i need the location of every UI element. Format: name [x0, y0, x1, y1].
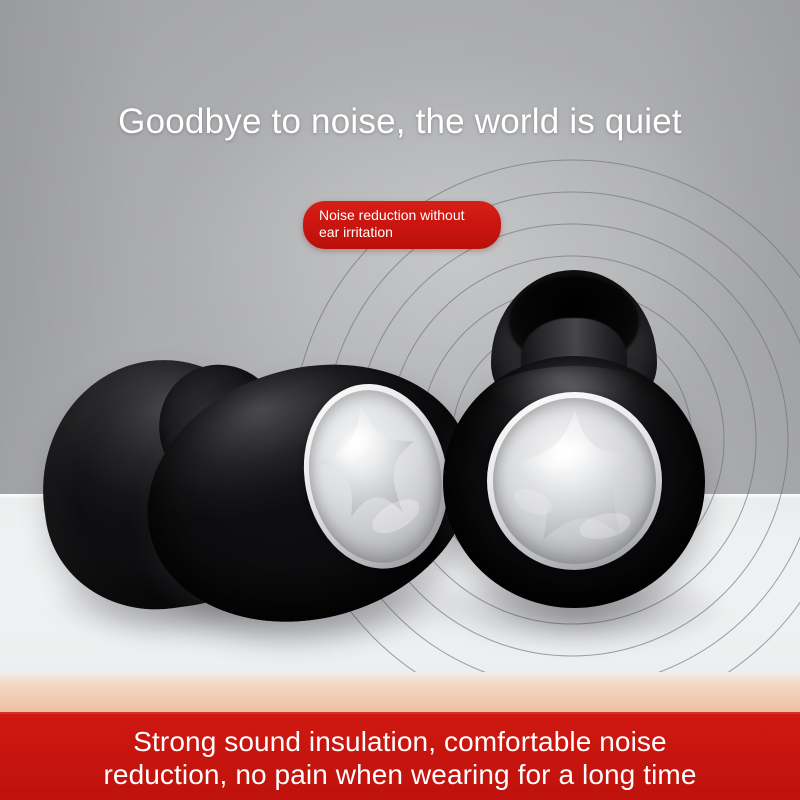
bottom-banner-text: Strong sound insulation, comfortable noi… [0, 725, 800, 791]
warm-foreground-strip [0, 672, 800, 713]
bottom-banner: Strong sound insulation, comfortable noi… [0, 712, 800, 800]
headline: Goodbye to noise, the world is quiet [0, 100, 800, 144]
earplug-right [443, 270, 705, 615]
feature-badge: Noise reduction without ear irritation [303, 201, 501, 249]
bottom-banner-line-1: Strong sound insulation, comfortable noi… [0, 725, 800, 758]
feature-badge-line-2: ear irritation [319, 224, 487, 241]
bottom-banner-line-2: reduction, no pain when wearing for a lo… [0, 758, 800, 791]
feature-badge-line-1: Noise reduction without [319, 207, 487, 224]
product-promo-image: Goodbye to noise, the world is quiet Noi… [0, 0, 800, 800]
earplug-right-membrane [493, 398, 656, 564]
